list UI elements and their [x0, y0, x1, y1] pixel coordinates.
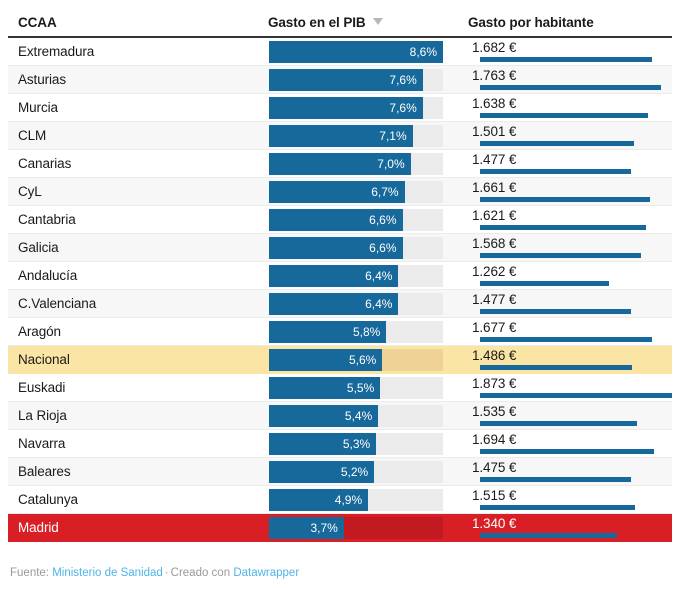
table-row[interactable]: Aragón5,8%1.677 € — [8, 318, 672, 346]
value-gasto-habitante: 1.661 € — [472, 179, 516, 196]
row-label-ccaa: CyL — [18, 178, 42, 206]
bar-fill-habitante — [480, 85, 661, 90]
value-gasto-habitante: 1.682 € — [472, 39, 516, 56]
row-label-ccaa: La Rioja — [18, 402, 67, 430]
row-label-ccaa: Nacional — [18, 346, 70, 374]
cell-gasto-pib: 7,6% — [269, 69, 443, 91]
cell-gasto-habitante: 1.262 € — [472, 262, 680, 290]
chart-footer: Fuente: Ministerio de Sanidad·Creado con… — [10, 567, 299, 579]
table-row[interactable]: Baleares5,2%1.475 € — [8, 458, 672, 486]
bar-value-pib: 5,8% — [269, 321, 386, 343]
bar-value-pib: 3,7% — [269, 517, 344, 539]
table-row[interactable]: Murcia7,6%1.638 € — [8, 94, 672, 122]
table-row[interactable]: La Rioja5,4%1.535 € — [8, 402, 672, 430]
bar-value-pib: 8,6% — [269, 41, 443, 63]
bar-value-pib: 7,6% — [269, 69, 423, 91]
table-row[interactable]: CLM7,1%1.501 € — [8, 122, 672, 150]
row-label-ccaa: Navarra — [18, 430, 65, 458]
row-label-ccaa: Andalucía — [18, 262, 77, 290]
value-gasto-habitante: 1.677 € — [472, 319, 516, 336]
cell-gasto-pib: 5,5% — [269, 377, 443, 399]
value-gasto-habitante: 1.638 € — [472, 95, 516, 112]
row-label-ccaa: C.Valenciana — [18, 290, 96, 318]
cell-gasto-habitante: 1.501 € — [472, 122, 680, 150]
footer-source-link[interactable]: Ministerio de Sanidad — [52, 567, 163, 579]
footer-created-text: Creado con — [171, 567, 230, 579]
table-row[interactable]: Catalunya4,9%1.515 € — [8, 486, 672, 514]
cell-gasto-habitante: 1.694 € — [472, 430, 680, 458]
cell-gasto-habitante: 1.477 € — [472, 150, 680, 178]
cell-gasto-pib: 7,1% — [269, 125, 443, 147]
table-row[interactable]: Andalucía6,4%1.262 € — [8, 262, 672, 290]
cell-gasto-habitante: 1.515 € — [472, 486, 680, 514]
column-header-gasto-pib[interactable]: Gasto en el PIB — [268, 15, 383, 30]
value-gasto-habitante: 1.568 € — [472, 235, 516, 252]
cell-gasto-pib: 7,0% — [269, 153, 443, 175]
footer-separator: · — [163, 567, 171, 579]
bar-value-pib: 7,0% — [269, 153, 411, 175]
table-row[interactable]: Euskadi5,5%1.873 € — [8, 374, 672, 402]
cell-gasto-pib: 8,6% — [269, 41, 443, 63]
table-row[interactable]: CyL6,7%1.661 € — [8, 178, 672, 206]
bar-value-pib: 5,6% — [269, 349, 382, 371]
cell-gasto-pib: 5,3% — [269, 433, 443, 455]
bar-value-pib: 6,6% — [269, 209, 403, 231]
value-gasto-habitante: 1.340 € — [472, 515, 516, 532]
cell-gasto-pib: 6,4% — [269, 293, 443, 315]
bar-fill-habitante — [480, 365, 632, 370]
table-header-row: CCAA Gasto en el PIB Gasto por habitante — [8, 0, 672, 38]
row-label-ccaa: Murcia — [18, 94, 58, 122]
cell-gasto-pib: 5,2% — [269, 461, 443, 483]
bar-value-pib: 6,7% — [269, 181, 405, 203]
table-row[interactable]: Madrid3,7%1.340 € — [8, 514, 672, 542]
row-label-ccaa: CLM — [18, 122, 46, 150]
cell-gasto-habitante: 1.661 € — [472, 178, 680, 206]
cell-gasto-pib: 6,6% — [269, 209, 443, 231]
bar-value-pib: 5,2% — [269, 461, 374, 483]
cell-gasto-habitante: 1.638 € — [472, 94, 680, 122]
row-label-ccaa: Galicia — [18, 234, 59, 262]
row-label-ccaa: Canarias — [18, 150, 71, 178]
cell-gasto-pib: 6,4% — [269, 265, 443, 287]
cell-gasto-pib: 4,9% — [269, 489, 443, 511]
cell-gasto-pib: 5,4% — [269, 405, 443, 427]
triangle-down-icon[interactable] — [373, 18, 383, 25]
footer-datawrapper-link[interactable]: Datawrapper — [233, 567, 299, 579]
table-row[interactable]: Navarra5,3%1.694 € — [8, 430, 672, 458]
row-label-ccaa: Asturias — [18, 66, 66, 94]
table-row[interactable]: Nacional5,6%1.486 € — [8, 346, 672, 374]
value-gasto-habitante: 1.535 € — [472, 403, 516, 420]
column-header-gasto-pib-label: Gasto en el PIB — [268, 15, 366, 30]
cell-gasto-habitante: 1.477 € — [472, 290, 680, 318]
value-gasto-habitante: 1.475 € — [472, 459, 516, 476]
bar-fill-habitante — [480, 57, 652, 62]
column-header-gasto-habitante[interactable]: Gasto por habitante — [468, 15, 594, 30]
table-row[interactable]: Extremadura8,6%1.682 € — [8, 38, 672, 66]
footer-source-prefix: Fuente: — [10, 567, 49, 579]
value-gasto-habitante: 1.873 € — [472, 375, 516, 392]
table-row[interactable]: Galicia6,6%1.568 € — [8, 234, 672, 262]
value-gasto-habitante: 1.515 € — [472, 487, 516, 504]
cell-gasto-habitante: 1.486 € — [472, 346, 680, 374]
cell-gasto-habitante: 1.475 € — [472, 458, 680, 486]
cell-gasto-pib: 5,6% — [269, 349, 443, 371]
bar-value-pib: 5,5% — [269, 377, 380, 399]
column-header-ccaa[interactable]: CCAA — [18, 15, 57, 30]
bar-value-pib: 6,6% — [269, 237, 403, 259]
cell-gasto-habitante: 1.682 € — [472, 38, 680, 66]
row-label-ccaa: Madrid — [18, 514, 59, 542]
cell-gasto-habitante: 1.763 € — [472, 66, 680, 94]
table-row[interactable]: Cantabria6,6%1.621 € — [8, 206, 672, 234]
cell-gasto-pib: 5,8% — [269, 321, 443, 343]
datawrapper-table-chart: CCAA Gasto en el PIB Gasto por habitante… — [0, 0, 680, 589]
cell-gasto-habitante: 1.535 € — [472, 402, 680, 430]
row-label-ccaa: Aragón — [18, 318, 61, 346]
value-gasto-habitante: 1.501 € — [472, 123, 516, 140]
table-row[interactable]: C.Valenciana6,4%1.477 € — [8, 290, 672, 318]
cell-gasto-pib: 7,6% — [269, 97, 443, 119]
cell-gasto-habitante: 1.677 € — [472, 318, 680, 346]
cell-gasto-pib: 6,7% — [269, 181, 443, 203]
bar-value-pib: 6,4% — [269, 265, 398, 287]
bar-value-pib: 4,9% — [269, 489, 368, 511]
bar-fill-habitante — [480, 225, 646, 230]
row-label-ccaa: Baleares — [18, 458, 70, 486]
value-gasto-habitante: 1.486 € — [472, 347, 516, 364]
bar-fill-habitante — [480, 113, 648, 118]
value-gasto-habitante: 1.262 € — [472, 263, 516, 280]
row-label-ccaa: Euskadi — [18, 374, 65, 402]
bar-value-pib: 7,1% — [269, 125, 413, 147]
value-gasto-habitante: 1.763 € — [472, 67, 516, 84]
cell-gasto-pib: 3,7% — [269, 517, 443, 539]
bar-value-pib: 6,4% — [269, 293, 398, 315]
bar-fill-habitante — [480, 169, 631, 174]
bar-value-pib: 7,6% — [269, 97, 423, 119]
bar-value-pib: 5,3% — [269, 433, 376, 455]
table-row[interactable]: Canarias7,0%1.477 € — [8, 150, 672, 178]
row-label-ccaa: Cantabria — [18, 206, 76, 234]
bar-fill-habitante — [480, 309, 631, 314]
row-label-ccaa: Catalunya — [18, 486, 78, 514]
bar-fill-habitante — [480, 449, 654, 454]
bar-fill-habitante — [480, 477, 631, 482]
bar-fill-habitante — [480, 533, 617, 538]
cell-gasto-habitante: 1.568 € — [472, 234, 680, 262]
cell-gasto-habitante: 1.621 € — [472, 206, 680, 234]
bar-fill-habitante — [480, 337, 652, 342]
table-body: Extremadura8,6%1.682 €Asturias7,6%1.763 … — [8, 38, 672, 542]
bar-fill-habitante — [480, 393, 672, 398]
bar-fill-habitante — [480, 197, 650, 202]
cell-gasto-habitante: 1.873 € — [472, 374, 680, 402]
cell-gasto-habitante: 1.340 € — [472, 514, 680, 542]
row-label-ccaa: Extremadura — [18, 38, 94, 66]
table-row[interactable]: Asturias7,6%1.763 € — [8, 66, 672, 94]
bar-fill-habitante — [480, 253, 641, 258]
bar-fill-habitante — [480, 281, 609, 286]
bar-value-pib: 5,4% — [269, 405, 378, 427]
bar-fill-habitante — [480, 505, 635, 510]
cell-gasto-pib: 6,6% — [269, 237, 443, 259]
value-gasto-habitante: 1.477 € — [472, 291, 516, 308]
value-gasto-habitante: 1.694 € — [472, 431, 516, 448]
bar-fill-habitante — [480, 141, 634, 146]
bar-fill-habitante — [480, 421, 637, 426]
value-gasto-habitante: 1.621 € — [472, 207, 516, 224]
value-gasto-habitante: 1.477 € — [472, 151, 516, 168]
